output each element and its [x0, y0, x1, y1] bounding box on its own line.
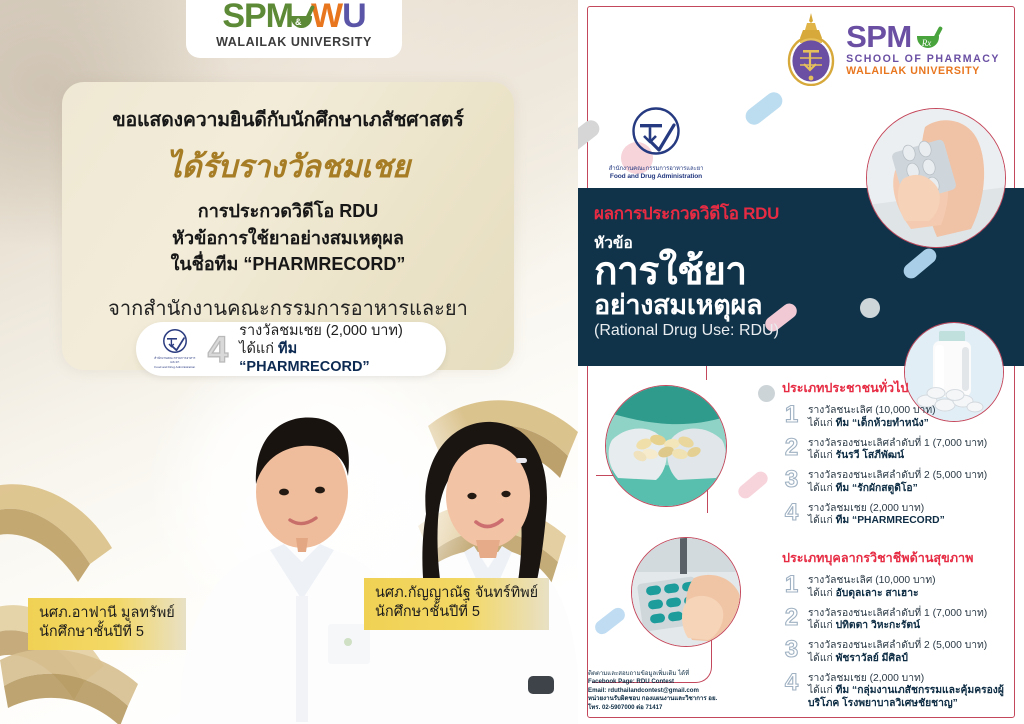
- spm-school-line2: WALAILAK UNIVERSITY: [846, 66, 1000, 77]
- capsule-decor-pink-low: [735, 469, 770, 502]
- award-rank-number: 4: [208, 331, 229, 368]
- headline-title-line2: อย่างสมเหตุผล: [594, 291, 864, 319]
- award-prefix: ได้แก่: [808, 588, 836, 599]
- fda-caption-english: Food and Drug Administration: [594, 173, 718, 180]
- award-prefix: ได้แก่: [808, 418, 836, 429]
- capsule-decor-blue-top: [742, 89, 786, 128]
- award-prize: รางวัลชมเชย (2,000 บาท): [808, 503, 945, 516]
- award-row: 2 รางวัลรองชนะเลิศลำดับที่ 1 (7,000 บาท)…: [782, 606, 1024, 633]
- award-winner-name: ปทิตตา วิหะกะรัตน์: [836, 620, 920, 631]
- award-winner: ได้แก่ ทีม “กลุ่มงานเภสัชกรรมและคุ้มครอง…: [808, 685, 1024, 710]
- fda-mini-logo: สำนักงานคณะกรรมการอาหารและยา Food and Dr…: [152, 328, 198, 369]
- award-index: 2: [782, 607, 801, 630]
- contact-line-phone: โทร. 02-5907000 ต่อ 71417: [588, 704, 768, 712]
- award-prefix: ได้แก่: [808, 483, 836, 494]
- award-row: 3 รางวัลรองชนะเลิศลำดับที่ 2 (5,000 บาท)…: [782, 468, 1018, 495]
- award-row: 1 รางวัลชนะเลิศ (10,000 บาท) ได้แก่ ทีม …: [782, 403, 1018, 430]
- student-name-2: นศภ.กัญญาณัฐ จันทร์ทิพย์: [375, 584, 538, 603]
- student-year-1: นักศึกษาชั้นปีที่ 5: [39, 623, 175, 642]
- award-badge: สำนักงานคณะกรรมการอาหารและยา Food and Dr…: [136, 322, 446, 376]
- poster-root: SPM & W U WALAILAK UNIVERSITY ขอแสดงความ…: [0, 0, 1024, 724]
- spm-school-logo: SPM Rx SCHOOL OF PHARMACY WALAILAK UNIVE…: [783, 12, 1000, 86]
- spm-school-text: SPM Rx SCHOOL OF PHARMACY WALAILAK UNIVE…: [846, 21, 1000, 76]
- fda-caption-thai: สำนักงานคณะกรรมการอาหารและยา: [594, 163, 718, 173]
- awards-block-general: ประเภทประชาชนทั่วไป 1 รางวัลชนะเลิศ (10,…: [782, 378, 1018, 533]
- ampersand-glyph: &: [295, 18, 301, 27]
- award-row: 1 รางวัลชนะเลิศ (10,000 บาท) ได้แก่ อับด…: [782, 573, 1024, 600]
- headline-title-line1: การใช้ยา: [594, 253, 864, 290]
- congrats-headline: ขอแสดงความยินดีกับนักศึกษาเภสัชศาสตร์: [80, 104, 496, 135]
- award-body: รางวัลรองชนะเลิศลำดับที่ 1 (7,000 บาท) ไ…: [808, 606, 987, 633]
- award-prefix: ได้แก่: [808, 685, 836, 696]
- students-photo: [120, 324, 578, 724]
- contact-line-facebook: Facebook Page: RDU Contest: [588, 678, 768, 686]
- award-winner-name: พัชราวัลย์ มีศิลป์: [836, 653, 908, 664]
- fda-mini-caption-en: Food and Drug Administration: [154, 366, 195, 370]
- award-prize: รางวัลชนะเลิศ (10,000 บาท): [808, 575, 936, 588]
- award-prize: รางวัลรองชนะเลิศลำดับที่ 1 (7,000 บาท): [808, 608, 987, 621]
- right-headline: ผลการประกวดวิดีโอ RDU หัวข้อ การใช้ยา อย…: [594, 200, 864, 340]
- award-index: 1: [782, 404, 801, 427]
- walailak-crest-icon: [783, 12, 839, 86]
- award-winner-prefix: ได้แก่: [239, 341, 278, 357]
- rx-glyph: Rx: [922, 39, 932, 48]
- spmwu-spm-text: SPM: [222, 0, 293, 33]
- spmwu-w-text: W: [311, 0, 342, 33]
- contact-line-email: Email: rduthailandcontest@gmail.com: [588, 687, 768, 695]
- award-winner-line: ได้แก่ ทีม “PHARMRECORD”: [239, 340, 430, 376]
- award-winner-name: ทีม “เด็กห้วยทำหนัง”: [836, 418, 929, 429]
- award-winner-name: ทีม “PHARMRECORD”: [836, 515, 945, 526]
- student-name-1: นศภ.อาฟานี มูลทรัพย์: [39, 604, 175, 623]
- awards-block-professional-title: ประเภทบุคลากรวิชาชีพด้านสุขภาพ: [782, 548, 1024, 568]
- award-prefix: ได้แก่: [808, 515, 836, 526]
- photo-hand-blister-top: [866, 108, 1006, 248]
- fda-seal-icon: [158, 328, 192, 356]
- photo-hand-teal-capsules: [631, 537, 741, 647]
- headline-kicker: ผลการประกวดวิดีโอ RDU: [594, 200, 864, 227]
- award-row: 3 รางวัลรองชนะเลิศลำดับที่ 2 (5,000 บาท)…: [782, 638, 1024, 665]
- spmwu-logo-card: SPM & W U WALAILAK UNIVERSITY: [186, 0, 402, 58]
- award-prize-text: รางวัลชมเชย (2,000 บาท): [239, 322, 430, 340]
- award-prize: รางวัลรองชนะเลิศลำดับที่ 2 (5,000 บาท): [808, 640, 987, 653]
- award-prize: รางวัลรองชนะเลิศลำดับที่ 1 (7,000 บาท): [808, 438, 987, 451]
- award-row: 2 รางวัลรองชนะเลิศลำดับที่ 1 (7,000 บาท)…: [782, 436, 1018, 463]
- spmwu-subtitle: WALAILAK UNIVERSITY: [216, 35, 372, 49]
- award-winner-name: อับดุลเลาะ สาเฮาะ: [836, 588, 919, 599]
- award-winner: ได้แก่ ทีม “เด็กห้วยทำหนัง”: [808, 418, 936, 431]
- fda-mini-caption-th: สำนักงานคณะกรรมการอาหารและยา: [152, 357, 198, 365]
- award-winner: ได้แก่ ทีม “PHARMRECORD”: [808, 515, 945, 528]
- contact-line-follow: ติดตามและสอบถามข้อมูลเพิ่มเติม ได้ที่: [588, 670, 768, 678]
- fda-seal-icon: [624, 104, 688, 160]
- award-body: รางวัลรองชนะเลิศลำดับที่ 2 (5,000 บาท) ไ…: [808, 468, 987, 495]
- award-badge-texts: รางวัลชมเชย (2,000 บาท) ได้แก่ ทีม “PHAR…: [239, 322, 430, 376]
- dot-decor-grey-list: [758, 385, 775, 402]
- award-winner: ได้แก่ พัชราวัลย์ มีศิลป์: [808, 653, 987, 666]
- congrats-contest-name: การประกวดวิดีโอ RDU: [80, 199, 496, 225]
- mortar-pestle-icon: &: [290, 5, 313, 28]
- left-panel: SPM & W U WALAILAK UNIVERSITY ขอแสดงความ…: [0, 0, 578, 724]
- student-nametag-2: นศภ.กัญญาณัฐ จันทร์ทิพย์ นักศึกษาชั้นปีท…: [364, 578, 549, 630]
- fda-logo: สำนักงานคณะกรรมการอาหารและยา Food and Dr…: [594, 104, 718, 180]
- award-winner-name: รันรวี โสภีพัฒน์: [836, 450, 904, 461]
- headline-english: (Rational Drug Use: RDU): [594, 322, 864, 340]
- award-index: 3: [782, 639, 801, 662]
- spmwu-wordmark: SPM & W U: [222, 0, 365, 33]
- award-winner-name: ทีม “กลุ่มงานเภสัชกรรมและคุ้มครองผู้บริโ…: [808, 685, 1004, 709]
- award-winner-name: ทีม “รักผักสตูดิโอ”: [836, 483, 918, 494]
- capsule-decor-blue-low: [592, 605, 627, 637]
- awards-block-general-title: ประเภทประชาชนทั่วไป: [782, 378, 1018, 398]
- award-winner: ได้แก่ อับดุลเลาะ สาเฮาะ: [808, 588, 936, 601]
- award-body: รางวัลรองชนะเลิศลำดับที่ 2 (5,000 บาท) ไ…: [808, 638, 987, 665]
- award-prefix: ได้แก่: [808, 620, 836, 631]
- confetti-ribbon-left: [0, 470, 136, 720]
- award-prize: รางวัลรองชนะเลิศลำดับที่ 2 (5,000 บาท): [808, 470, 987, 483]
- award-body: รางวัลชมเชย (2,000 บาท) ได้แก่ ทีม “กลุ่…: [808, 671, 1024, 711]
- connector-line-1: [706, 366, 707, 380]
- award-index: 1: [782, 574, 801, 597]
- award-index: 2: [782, 437, 801, 460]
- award-row: 4 รางวัลชมเชย (2,000 บาท) ได้แก่ ทีม “กล…: [782, 671, 1024, 711]
- congrats-award-title: ได้รับรางวัลชมเชย: [80, 141, 496, 191]
- award-index: 4: [782, 672, 801, 695]
- award-winner: ได้แก่ ทีม “รักผักสตูดิโอ”: [808, 483, 987, 496]
- award-body: รางวัลชนะเลิศ (10,000 บาท) ได้แก่ อับดุล…: [808, 573, 936, 600]
- spm-school-line1: SCHOOL OF PHARMACY: [846, 54, 1000, 65]
- spmwu-u-text: U: [342, 0, 366, 33]
- award-index: 4: [782, 502, 801, 525]
- award-body: รางวัลรองชนะเลิศลำดับที่ 1 (7,000 บาท) ไ…: [808, 436, 987, 463]
- award-prize: รางวัลชมเชย (2,000 บาท): [808, 673, 1024, 686]
- award-winner: ได้แก่ ปทิตตา วิหะกะรัตน์: [808, 620, 987, 633]
- contact-info: ติดตามและสอบถามข้อมูลเพิ่มเติม ได้ที่ Fa…: [588, 670, 768, 712]
- photo-gloved-hands-pills: [605, 385, 727, 507]
- student-year-2: นักศึกษาชั้นปีที่ 5: [375, 603, 538, 622]
- rx-mortar-icon: Rx: [916, 26, 940, 48]
- award-body: รางวัลชมเชย (2,000 บาท) ได้แก่ ทีม “PHAR…: [808, 501, 945, 528]
- student-nametag-1: นศภ.อาฟานี มูลทรัพย์ นักศึกษาชั้นปีที่ 5: [28, 598, 186, 650]
- spm-letters: SPM: [846, 21, 912, 52]
- awards-block-professional: ประเภทบุคลากรวิชาชีพด้านสุขภาพ 1 รางวัลช…: [782, 548, 1024, 716]
- award-prefix: ได้แก่: [808, 450, 836, 461]
- award-index: 3: [782, 469, 801, 492]
- award-row: 4 รางวัลชมเชย (2,000 บาท) ได้แก่ ทีม “PH…: [782, 501, 1018, 528]
- congrats-topic: หัวข้อการใช้ยาอย่างสมเหตุผล: [80, 226, 496, 252]
- award-body: รางวัลชนะเลิศ (10,000 บาท) ได้แก่ ทีม “เ…: [808, 403, 936, 430]
- contact-line-department: หน่วยงานรับผิดชอบ กองแผนงานและวิชาการ อย…: [588, 695, 768, 703]
- award-winner: ได้แก่ รันรวี โสภีพัฒน์: [808, 450, 987, 463]
- congrats-team-name: ในชื่อทีม “PHARMRECORD”: [80, 252, 496, 278]
- award-prize: รางวัลชนะเลิศ (10,000 บาท): [808, 405, 936, 418]
- award-prefix: ได้แก่: [808, 653, 836, 664]
- congrats-organizer: จากสำนักงานคณะกรรมการอาหารและยา: [80, 292, 496, 324]
